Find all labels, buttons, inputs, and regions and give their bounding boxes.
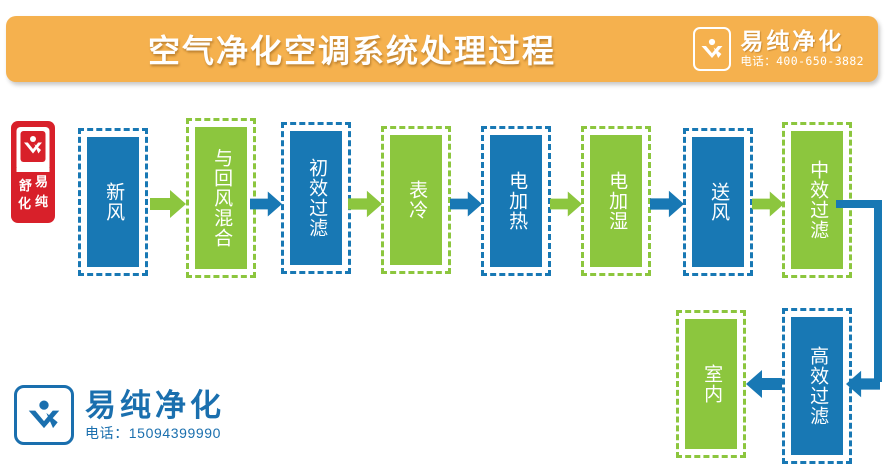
node-label: 初效过滤 — [306, 158, 326, 238]
flow-arrow-1 — [150, 190, 186, 218]
yichun-logo-icon — [693, 27, 731, 71]
brand-phone: 电话：400-650-3882 — [740, 54, 864, 69]
flow-arrow-6 — [650, 190, 684, 218]
flow-node-chuxiaoguolv[interactable]: 初效过滤 — [281, 122, 351, 274]
node-label: 表冷 — [406, 180, 426, 220]
flow-node-gaoxiaoguolv[interactable]: 高效过滤 — [782, 308, 852, 464]
flow-node-songfeng[interactable]: 送风 — [683, 128, 753, 276]
node-fill: 室内 — [685, 319, 737, 449]
node-label: 中效过滤 — [807, 160, 827, 240]
node-fill: 电加湿 — [590, 135, 642, 267]
flow-node-biaoleng[interactable]: 表冷 — [381, 126, 451, 274]
yichun-logo-icon — [14, 385, 74, 445]
footer-brand-name: 易纯净化 — [85, 388, 225, 424]
flow-node-yuhuifenghunhe[interactable]: 与回风混合 — [186, 118, 256, 278]
flow-arrow-3 — [348, 190, 382, 218]
flow-node-xinfeng[interactable]: 新风 — [78, 128, 148, 276]
node-fill: 与回风混合 — [195, 127, 247, 269]
svg-text:化: 化 — [18, 196, 31, 212]
flow-node-dianjiashi[interactable]: 电加湿 — [581, 126, 651, 276]
flow-arrow-8 — [744, 370, 784, 398]
flow-arrow-7 — [752, 190, 784, 218]
svg-text:纯: 纯 — [35, 194, 48, 210]
svg-text:舒: 舒 — [19, 178, 32, 194]
node-fill: 送风 — [692, 137, 744, 267]
svg-text:易: 易 — [35, 175, 48, 190]
node-fill: 表冷 — [390, 135, 442, 265]
node-label: 高效过滤 — [807, 346, 827, 426]
footer-brand-phone: 电话：15094399990 — [85, 424, 225, 442]
node-label: 电加湿 — [606, 171, 626, 231]
red-seal-stamp-icon: 舒 易 化 纯 — [10, 120, 56, 224]
node-fill: 初效过滤 — [290, 131, 342, 265]
node-fill: 电加热 — [490, 135, 542, 267]
flow-arrow-into-gaoxiaoguolv — [846, 370, 880, 398]
header-bar: 空气净化空调系统处理过程 易纯净化 电话：400-650-3882 — [6, 16, 878, 82]
header-brand: 易纯净化 电话：400-650-3882 — [693, 27, 864, 71]
node-label: 新风 — [103, 182, 123, 222]
footer-brand: 易纯净化 电话：15094399990 — [14, 385, 225, 445]
flow-arrow-5 — [550, 190, 582, 218]
node-fill: 高效过滤 — [791, 317, 843, 455]
node-fill: 新风 — [87, 137, 139, 267]
flow-node-dianjiare[interactable]: 电加热 — [481, 126, 551, 276]
node-label: 与回风混合 — [211, 148, 231, 248]
flow-node-shinei[interactable]: 室内 — [676, 310, 746, 458]
node-label: 送风 — [708, 182, 728, 222]
flow-arrow-4 — [450, 190, 482, 218]
infographic-canvas: 空气净化空调系统处理过程 易纯净化 电话：400-650-3882 — [0, 0, 886, 468]
node-label: 室内 — [701, 364, 721, 404]
node-label: 电加热 — [506, 171, 526, 231]
brand-name: 易纯净化 — [740, 29, 864, 53]
flow-arrow-2 — [250, 190, 282, 218]
header-brand-text: 易纯净化 电话：400-650-3882 — [740, 29, 864, 68]
footer-brand-text: 易纯净化 电话：15094399990 — [85, 388, 225, 442]
